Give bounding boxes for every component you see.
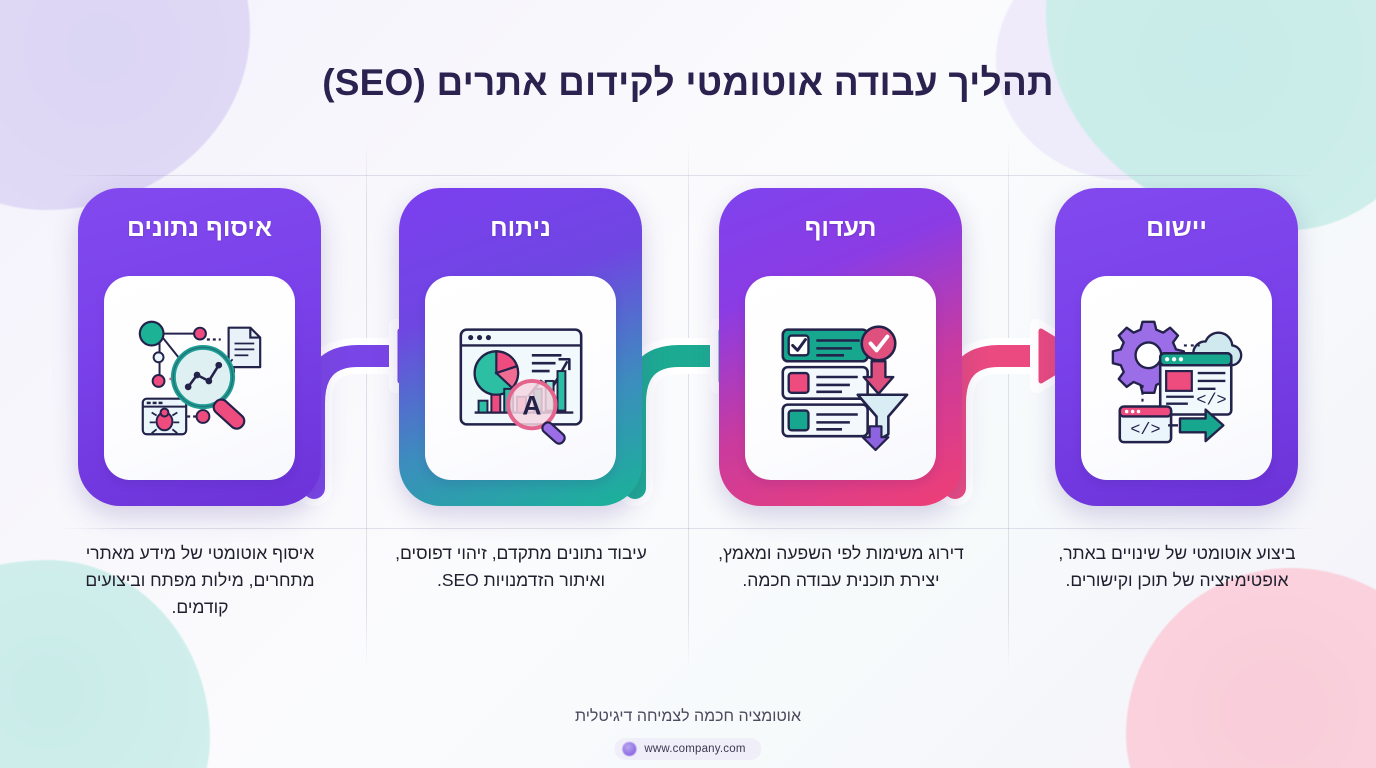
step-card-prioritization[interactable]: תעדוף	[719, 188, 962, 506]
step-icon-wrap-2: A	[425, 276, 616, 480]
step-icon-wrap-1	[104, 276, 295, 480]
svg-text:</>: </>	[1196, 392, 1226, 411]
footer-url-badge[interactable]: www.company.com	[614, 738, 761, 760]
page-title: תהליך עבודה אוטומטי לקידום אתרים (SEO)	[0, 62, 1376, 104]
svg-text:A: A	[522, 391, 541, 421]
step-title-4: יישום	[1055, 214, 1298, 243]
step-card-analysis[interactable]: ניתוח	[399, 188, 642, 506]
step-title-2: ניתוח	[399, 214, 642, 243]
step-title-3: תעדוף	[719, 214, 962, 243]
analytics-dashboard-icon: A	[447, 304, 595, 452]
step-description-4: ביצוע אוטומטי של שינויים באתר, אופטימיזצ…	[1045, 540, 1309, 594]
step-card-data-collection[interactable]: איסוף נתונים	[78, 188, 321, 506]
step-icon-wrap-3	[745, 276, 936, 480]
brand-dot-icon	[622, 742, 636, 756]
checklist-funnel-icon	[767, 304, 915, 452]
step-description-3: דירוג משימות לפי השפעה ומאמץ, יצירת תוכנ…	[709, 540, 973, 594]
network-magnifier-icon	[126, 304, 274, 452]
background-blob-top-left	[0, 0, 250, 210]
svg-text:</>: </>	[1130, 421, 1160, 440]
infographic-canvas: תהליך עבודה אוטומטי לקידום אתרים (SEO)	[0, 0, 1376, 768]
step-description-2: עיבוד נתונים מתקדם, זיהוי דפוסים, ואיתור…	[389, 540, 653, 594]
footer-url-text: www.company.com	[644, 743, 745, 755]
gear-cloud-code-icon: </> </>	[1103, 304, 1251, 452]
step-description-1: איסוף אוטומטי של מידע מאתרי מתחרים, מילו…	[68, 540, 332, 621]
footer-tagline: אוטומציה חכמה לצמיחה דיגיטלית	[0, 708, 1376, 726]
step-title-1: איסוף נתונים	[78, 214, 321, 243]
step-icon-wrap-4: </> </>	[1081, 276, 1272, 480]
step-card-implementation[interactable]: יישום	[1055, 188, 1298, 506]
